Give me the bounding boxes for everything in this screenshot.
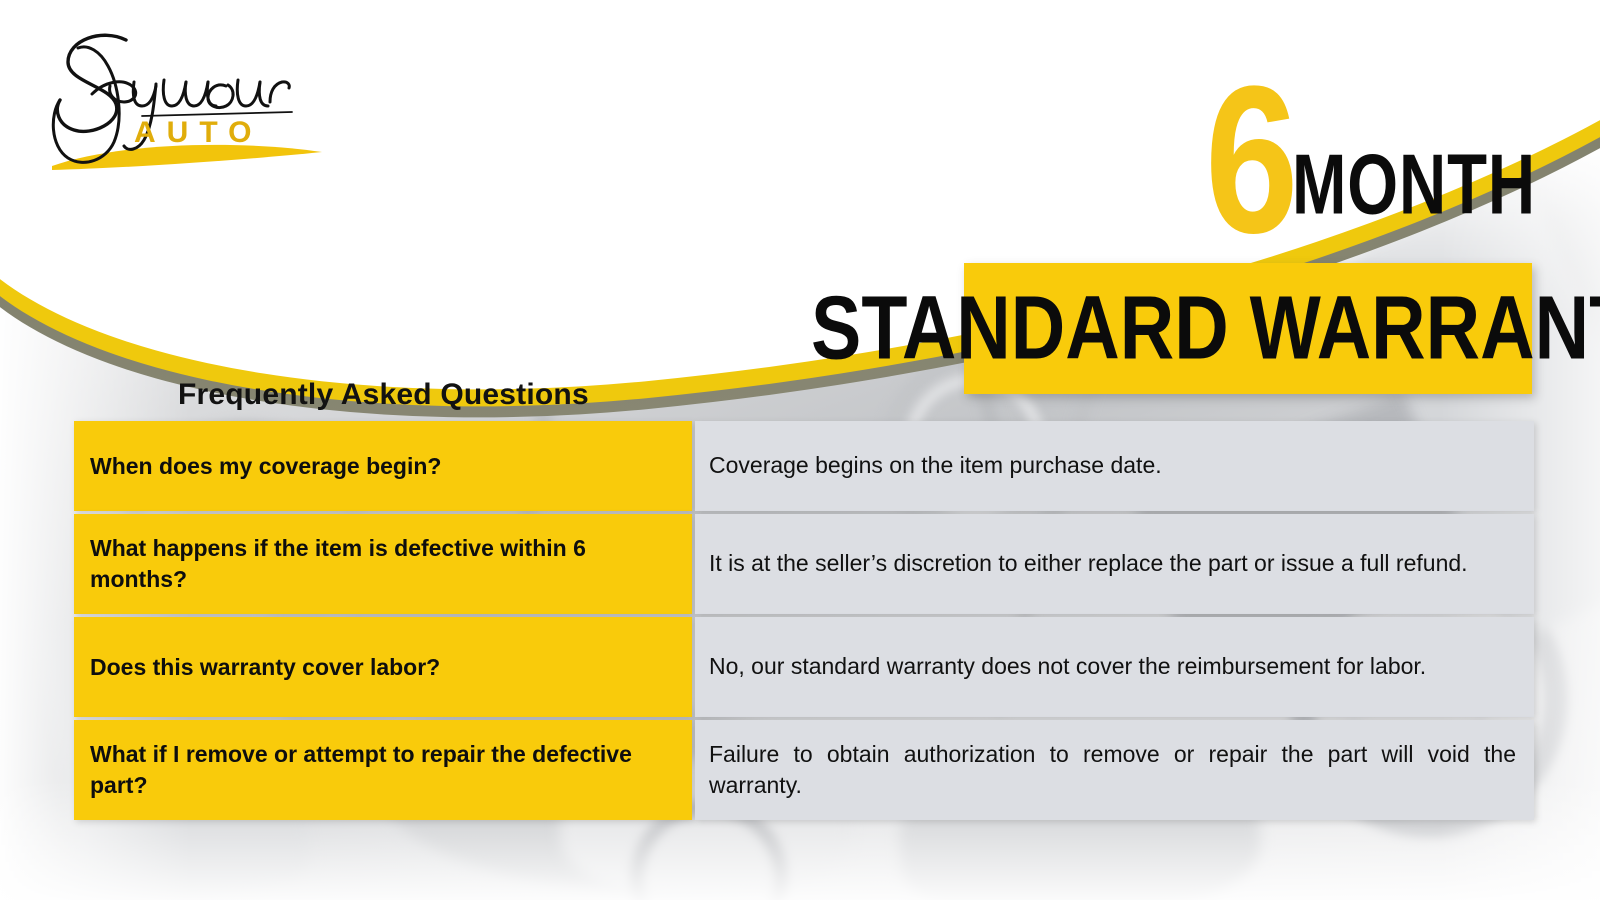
faq-question-cell: What happens if the item is defective wi…: [74, 514, 692, 614]
seymour-auto-logo: AUTO: [30, 18, 330, 178]
faq-answer-text: No, our standard warranty does not cover…: [709, 651, 1516, 682]
faq-answer-cell: Failure to obtain authorization to remov…: [695, 720, 1534, 820]
faq-question-text: What happens if the item is defective wi…: [90, 533, 676, 594]
faq-answer-cell: It is at the seller’s discretion to eith…: [695, 514, 1534, 614]
faq-question-text: When does my coverage begin?: [90, 451, 441, 482]
term-unit: MONTH: [1292, 143, 1536, 228]
warranty-term: 6 MONTH: [1205, 78, 1575, 242]
faq-table: When does my coverage begin? Coverage be…: [74, 421, 1534, 820]
table-row: Does this warranty cover labor? No, our …: [74, 617, 1534, 717]
faq-answer-cell: Coverage begins on the item purchase dat…: [695, 421, 1534, 511]
table-row: When does my coverage begin? Coverage be…: [74, 421, 1534, 511]
faq-question-cell: When does my coverage begin?: [74, 421, 692, 511]
faq-question-cell: What if I remove or attempt to repair th…: [74, 720, 692, 820]
standard-warranty-banner: STANDARD WARRANTY: [964, 263, 1532, 394]
term-number: 6: [1205, 78, 1297, 242]
faq-heading: Frequently Asked Questions: [178, 378, 589, 412]
warranty-slide: AUTO 6 MONTH STANDARD WARRANTY Frequentl…: [0, 0, 1600, 900]
banner-title: STANDARD WARRANTY: [811, 283, 1600, 373]
faq-question-cell: Does this warranty cover labor?: [74, 617, 692, 717]
table-row: What happens if the item is defective wi…: [74, 514, 1534, 614]
faq-answer-text: It is at the seller’s discretion to eith…: [709, 548, 1516, 579]
faq-answer-text: Coverage begins on the item purchase dat…: [709, 450, 1516, 481]
faq-answer-text: Failure to obtain authorization to remov…: [709, 739, 1516, 801]
faq-answer-cell: No, our standard warranty does not cover…: [695, 617, 1534, 717]
table-row: What if I remove or attempt to repair th…: [74, 720, 1534, 820]
faq-question-text: What if I remove or attempt to repair th…: [90, 739, 676, 800]
svg-text:AUTO: AUTO: [134, 116, 262, 149]
faq-question-text: Does this warranty cover labor?: [90, 652, 440, 683]
